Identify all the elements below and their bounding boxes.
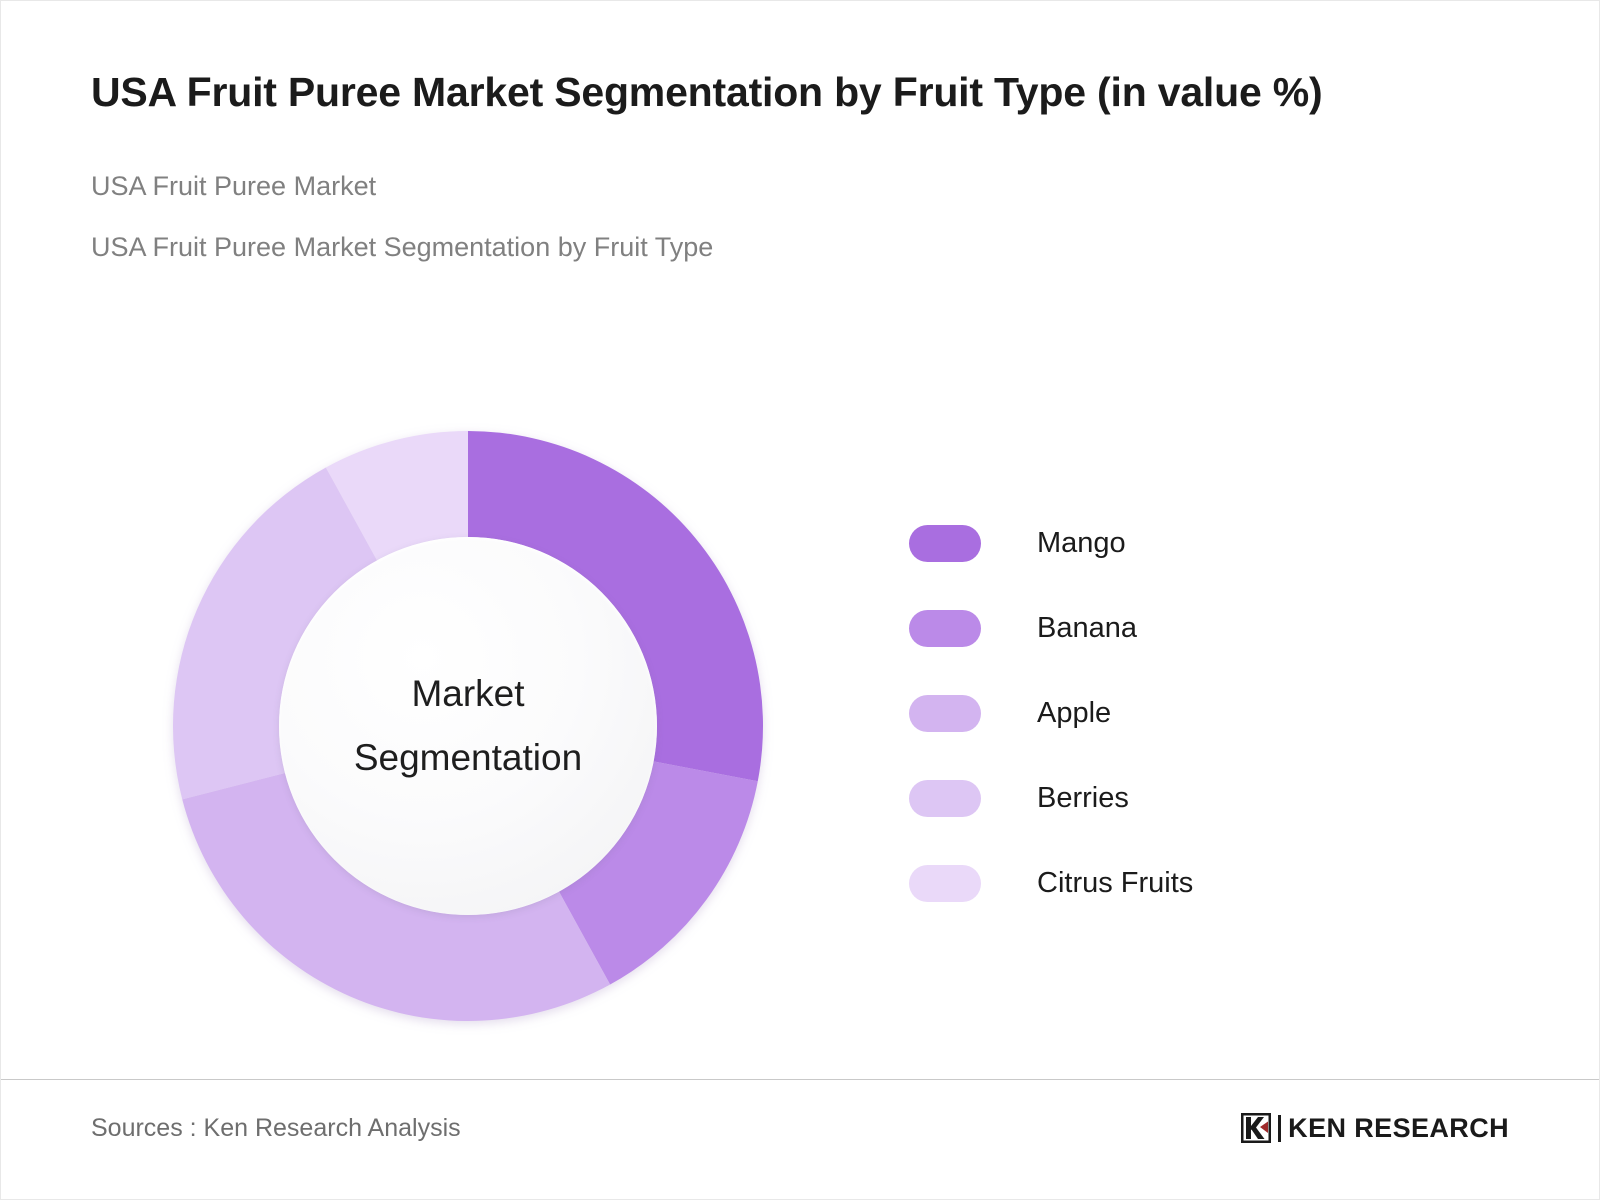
logo-k-mark-icon [1241, 1113, 1271, 1143]
legend-item[interactable]: Apple [909, 671, 1339, 756]
chart-subtitle-market: USA Fruit Puree Market [91, 121, 1421, 202]
legend-label: Mango [1037, 527, 1126, 560]
donut-slice[interactable] [182, 773, 610, 1021]
chart-header: USA Fruit Puree Market Segmentation by F… [91, 63, 1421, 263]
donut-slice[interactable] [173, 467, 377, 799]
page-title: USA Fruit Puree Market Segmentation by F… [91, 63, 1391, 121]
donut-slice[interactable] [468, 431, 763, 781]
center-label-line-2: Segmentation [354, 726, 582, 790]
sources-text: Sources : Ken Research Analysis [91, 1114, 461, 1143]
chart-legend: MangoBananaAppleBerriesCitrus Fruits [909, 501, 1339, 926]
legend-swatch [909, 525, 981, 562]
legend-label: Banana [1037, 612, 1137, 645]
donut-slice[interactable] [326, 431, 468, 561]
donut-svg [173, 431, 763, 1021]
footer-divider [1, 1079, 1599, 1080]
chart-page: USA Fruit Puree Market Segmentation by F… [0, 0, 1600, 1200]
center-label-line-1: Market [411, 662, 524, 726]
logo-wordmark: KEN RESEARCH [1288, 1113, 1509, 1144]
chart-footer: Sources : Ken Research Analysis KEN RESE… [91, 1093, 1509, 1163]
legend-item[interactable]: Mango [909, 501, 1339, 586]
legend-label: Berries [1037, 782, 1129, 815]
ken-research-logo: KEN RESEARCH [1241, 1111, 1509, 1145]
legend-swatch [909, 865, 981, 902]
donut-slice-group [173, 431, 763, 1021]
legend-item[interactable]: Banana [909, 586, 1339, 671]
donut-chart: Market Segmentation [173, 431, 763, 1021]
chart-subtitle-segmentation: USA Fruit Puree Market Segmentation by F… [91, 203, 1421, 263]
legend-label: Citrus Fruits [1037, 867, 1193, 900]
legend-item[interactable]: Citrus Fruits [909, 841, 1339, 926]
donut-slice[interactable] [559, 761, 758, 984]
legend-item[interactable]: Berries [909, 756, 1339, 841]
legend-label: Apple [1037, 697, 1111, 730]
legend-swatch [909, 780, 981, 817]
legend-swatch [909, 695, 981, 732]
logo-divider [1278, 1115, 1281, 1142]
donut-center-label: Market Segmentation [279, 537, 657, 915]
legend-swatch [909, 610, 981, 647]
